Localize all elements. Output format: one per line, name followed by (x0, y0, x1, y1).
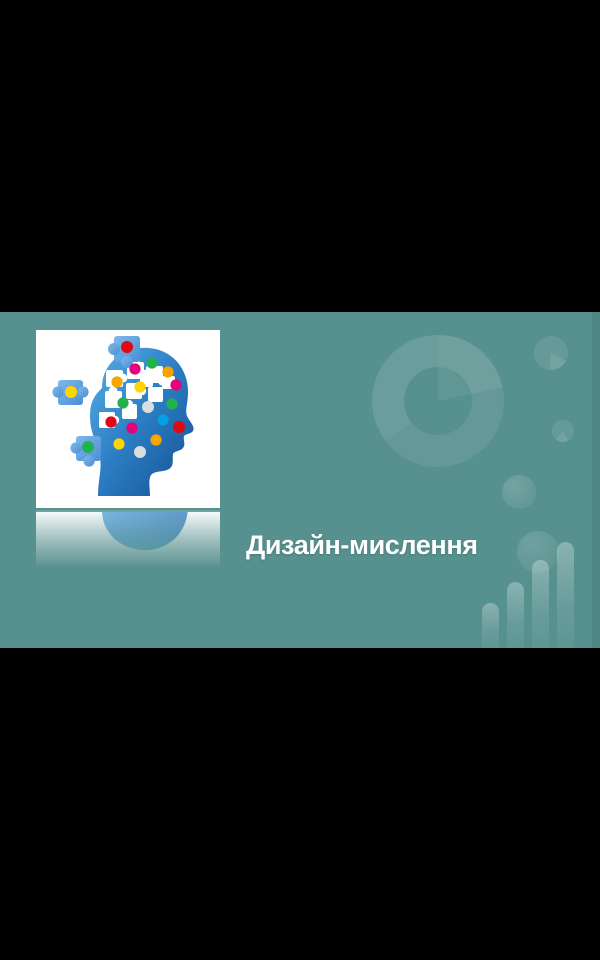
donut-chart-hole (404, 367, 472, 435)
reflection-divider (36, 510, 220, 512)
illustration-card (36, 330, 220, 508)
small-circle-decoration-icon (552, 420, 574, 442)
banner-right-edge (592, 312, 600, 648)
bar-1 (482, 603, 499, 648)
donut-chart-decoration-icon (372, 335, 504, 467)
bar-3 (532, 560, 549, 648)
reflection-fade-overlay (36, 510, 220, 568)
slide-stage: Дизайн-мислення (0, 0, 600, 960)
letterbox-bottom (0, 648, 600, 960)
donut-chart-inner-slice (404, 367, 472, 435)
bar-4 (557, 542, 574, 648)
title-banner: Дизайн-мислення (0, 312, 600, 648)
illustration-reflection (36, 510, 220, 568)
page-title: Дизайн-мислення (246, 530, 478, 561)
bar-chart-decoration-icon (482, 538, 594, 648)
small-circle-decoration-icon (502, 475, 536, 509)
bar-2 (507, 582, 524, 648)
letterbox-top (0, 0, 600, 312)
head-with-puzzle-pieces-illustration (36, 330, 220, 508)
pie-circle-decoration-icon (534, 336, 568, 370)
